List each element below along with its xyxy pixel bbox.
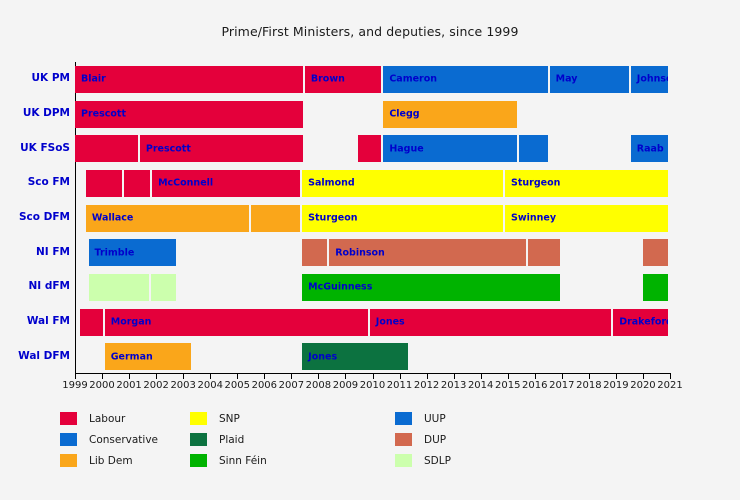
legend-item-lib-dem[interactable]: Lib Dem bbox=[60, 450, 158, 471]
bar-segment[interactable] bbox=[528, 239, 560, 266]
bar-label: Jones bbox=[308, 351, 337, 362]
gantt-chart: Prime/First Ministers, and deputies, sin… bbox=[0, 0, 740, 500]
bar-drakeford[interactable]: Drakeford bbox=[613, 309, 668, 336]
x-axis-tick bbox=[508, 374, 509, 379]
x-axis-tick-label: 2021 bbox=[653, 380, 687, 391]
bar-segment[interactable] bbox=[302, 239, 327, 266]
bar-segment[interactable] bbox=[519, 135, 548, 162]
bar-mcconnell[interactable]: McConnell bbox=[152, 170, 300, 197]
bar-mcguinness[interactable]: McGuinness bbox=[302, 274, 560, 301]
legend-item-dup[interactable]: DUP bbox=[395, 429, 451, 450]
bar-cameron[interactable]: Cameron bbox=[383, 66, 547, 93]
bar-clegg[interactable]: Clegg bbox=[383, 101, 516, 128]
bar-label: Blair bbox=[81, 74, 106, 85]
bar-german[interactable]: German bbox=[105, 343, 191, 370]
row-label-wal-dfm: Wal DFM bbox=[2, 350, 70, 362]
legend-label: DUP bbox=[424, 434, 446, 446]
bar-label: German bbox=[111, 351, 153, 362]
legend-swatch-icon bbox=[395, 412, 412, 425]
x-axis-tick bbox=[454, 374, 455, 379]
x-axis-tick bbox=[237, 374, 238, 379]
x-axis-tick bbox=[400, 374, 401, 379]
bar-trimble[interactable]: Trimble bbox=[89, 239, 176, 266]
legend-swatch-icon bbox=[395, 454, 412, 467]
bar-label: Salmond bbox=[308, 178, 355, 189]
legend-label: SDLP bbox=[424, 455, 451, 467]
legend-label: Plaid bbox=[219, 434, 244, 446]
bar-jones[interactable]: Jones bbox=[302, 343, 408, 370]
bar-label: Brown bbox=[311, 74, 345, 85]
plot-area: BlairBrownCameronMayJohnsonPrescottClegg… bbox=[75, 62, 670, 374]
bar-raab[interactable]: Raab bbox=[631, 135, 668, 162]
legend-column: SNPPlaidSinn Féin bbox=[190, 408, 267, 471]
bar-label: Prescott bbox=[81, 109, 126, 120]
legend-swatch-icon bbox=[60, 412, 77, 425]
row-label-sco-dfm: Sco DFM bbox=[2, 211, 70, 223]
x-axis-tick bbox=[589, 374, 590, 379]
x-axis-tick bbox=[129, 374, 130, 379]
bar-segment[interactable] bbox=[89, 274, 149, 301]
bar-hague[interactable]: Hague bbox=[383, 135, 516, 162]
legend-item-uup[interactable]: UUP bbox=[395, 408, 451, 429]
x-axis-tick bbox=[75, 374, 76, 379]
row-label-uk-pm: UK PM bbox=[2, 72, 70, 84]
legend-label: Sinn Féin bbox=[219, 455, 267, 467]
x-axis-tick bbox=[291, 374, 292, 379]
bar-salmond[interactable]: Salmond bbox=[302, 170, 503, 197]
x-axis-tick bbox=[643, 374, 644, 379]
legend-item-labour[interactable]: Labour bbox=[60, 408, 158, 429]
bar-morgan[interactable]: Morgan bbox=[105, 309, 368, 336]
legend-swatch-icon bbox=[190, 412, 207, 425]
bar-label: Cameron bbox=[389, 74, 437, 85]
bar-segment[interactable] bbox=[124, 170, 150, 197]
x-axis-tick bbox=[535, 374, 536, 379]
bar-segment[interactable] bbox=[358, 135, 382, 162]
legend-item-sdlp[interactable]: SDLP bbox=[395, 450, 451, 471]
bar-segment[interactable] bbox=[643, 274, 668, 301]
bar-may[interactable]: May bbox=[550, 66, 629, 93]
x-axis-tick bbox=[427, 374, 428, 379]
x-axis-tick bbox=[670, 374, 671, 379]
legend-item-sinn-féin[interactable]: Sinn Féin bbox=[190, 450, 267, 471]
page-title: Prime/First Ministers, and deputies, sin… bbox=[0, 24, 740, 39]
row-label-wal-fm: Wal FM bbox=[2, 315, 70, 327]
bar-jones[interactable]: Jones bbox=[370, 309, 611, 336]
legend-item-plaid[interactable]: Plaid bbox=[190, 429, 267, 450]
bar-label: McGuinness bbox=[308, 282, 372, 293]
bar-segment[interactable] bbox=[75, 135, 138, 162]
bar-segment[interactable] bbox=[251, 205, 300, 232]
bar-label: Clegg bbox=[389, 109, 419, 120]
row-label-uk-fsos: UK FSoS bbox=[2, 142, 70, 154]
legend-label: SNP bbox=[219, 413, 240, 425]
legend-swatch-icon bbox=[190, 454, 207, 467]
bar-label: Prescott bbox=[146, 143, 191, 154]
bar-segment[interactable] bbox=[80, 309, 102, 336]
bar-sturgeon[interactable]: Sturgeon bbox=[302, 205, 503, 232]
x-axis-tick bbox=[210, 374, 211, 379]
bar-label: May bbox=[556, 74, 578, 85]
bar-wallace[interactable]: Wallace bbox=[86, 205, 249, 232]
bar-label: Raab bbox=[637, 143, 664, 154]
x-axis-tick bbox=[345, 374, 346, 379]
legend-swatch-icon bbox=[190, 433, 207, 446]
bar-label: Johnson bbox=[637, 74, 668, 85]
bar-sturgeon[interactable]: Sturgeon bbox=[505, 170, 668, 197]
bar-prescott[interactable]: Prescott bbox=[75, 101, 303, 128]
bar-segment[interactable] bbox=[86, 170, 122, 197]
legend-label: UUP bbox=[424, 413, 446, 425]
legend-column: LabourConservativeLib Dem bbox=[60, 408, 158, 471]
bar-label: Swinney bbox=[511, 213, 556, 224]
legend-label: Labour bbox=[89, 413, 125, 425]
x-axis-tick bbox=[481, 374, 482, 379]
bar-segment[interactable] bbox=[643, 239, 668, 266]
row-label-ni-fm: NI FM bbox=[2, 246, 70, 258]
legend-label: Conservative bbox=[89, 434, 158, 446]
legend-item-conservative[interactable]: Conservative bbox=[60, 429, 158, 450]
bar-label: Sturgeon bbox=[308, 213, 357, 224]
x-axis-tick bbox=[264, 374, 265, 379]
row-label-sco-fm: Sco FM bbox=[2, 176, 70, 188]
legend-swatch-icon bbox=[60, 454, 77, 467]
bar-segment[interactable] bbox=[151, 274, 176, 301]
x-axis-tick bbox=[102, 374, 103, 379]
bar-label: Robinson bbox=[335, 247, 385, 258]
bar-label: Jones bbox=[376, 317, 405, 328]
legend-item-snp[interactable]: SNP bbox=[190, 408, 267, 429]
row-label-uk-dpm: UK DPM bbox=[2, 107, 70, 119]
x-axis-tick bbox=[183, 374, 184, 379]
legend-swatch-icon bbox=[60, 433, 77, 446]
bar-johnson[interactable]: Johnson bbox=[631, 66, 668, 93]
legend-label: Lib Dem bbox=[89, 455, 133, 467]
x-axis-tick bbox=[156, 374, 157, 379]
x-axis-tick bbox=[562, 374, 563, 379]
bar-label: McConnell bbox=[158, 178, 213, 189]
legend-swatch-icon bbox=[395, 433, 412, 446]
bar-prescott[interactable]: Prescott bbox=[140, 135, 303, 162]
bar-blair[interactable]: Blair bbox=[75, 66, 303, 93]
bar-label: Trimble bbox=[95, 247, 135, 258]
bar-brown[interactable]: Brown bbox=[305, 66, 381, 93]
bar-label: Drakeford bbox=[619, 317, 668, 328]
x-axis-tick bbox=[616, 374, 617, 379]
bar-label: Morgan bbox=[111, 317, 152, 328]
bar-robinson[interactable]: Robinson bbox=[329, 239, 526, 266]
legend: LabourConservativeLib DemSNPPlaidSinn Fé… bbox=[60, 408, 680, 478]
bar-label: Hague bbox=[389, 143, 423, 154]
x-axis-tick bbox=[318, 374, 319, 379]
bar-label: Sturgeon bbox=[511, 178, 560, 189]
y-axis-labels: UK PMUK DPMUK FSoSSco FMSco DFMNI FMNI d… bbox=[0, 62, 70, 374]
x-axis-tick bbox=[373, 374, 374, 379]
bar-label: Wallace bbox=[92, 213, 134, 224]
bar-swinney[interactable]: Swinney bbox=[505, 205, 668, 232]
legend-column: UUPDUPSDLP bbox=[395, 408, 451, 471]
row-label-ni-dfm: NI dFM bbox=[2, 280, 70, 292]
